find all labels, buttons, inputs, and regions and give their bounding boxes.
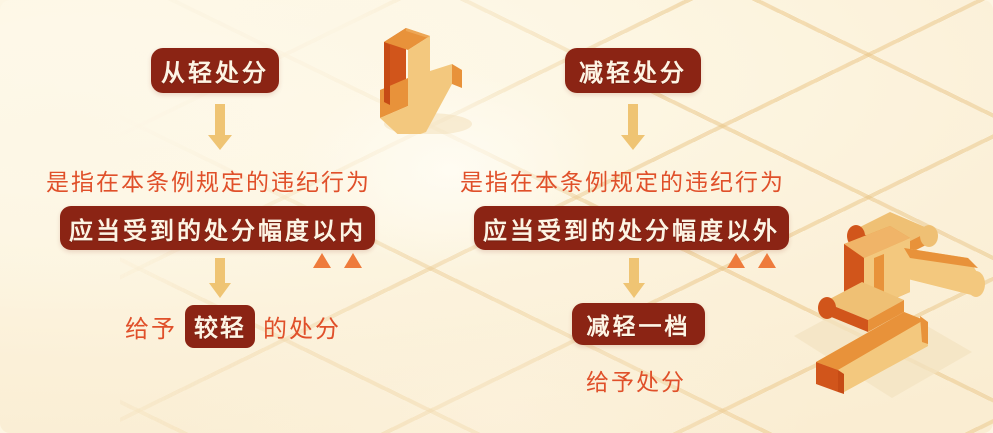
result-badge-cong-qing[interactable]: 较轻 bbox=[185, 305, 255, 348]
emphasis-badge-cong-qing[interactable]: 应当受到的处分幅度以内 bbox=[60, 206, 375, 250]
triangle-marker-pair-left bbox=[313, 253, 362, 268]
result-caption-jian-qing: 给予处分 bbox=[586, 363, 686, 397]
down-arrow-icon-left-1 bbox=[206, 104, 234, 152]
triangle-marker-icon bbox=[758, 253, 776, 268]
result-suffix-cong-qing: 的处分 bbox=[263, 309, 341, 344]
definition-text-cong-qing: 是指在本条例规定的违纪行为 bbox=[46, 163, 371, 197]
heading-badge-cong-qing[interactable]: 从轻处分 bbox=[151, 48, 279, 93]
down-arrow-icon-right-1 bbox=[619, 104, 647, 152]
result-prefix-cong-qing: 给予 bbox=[125, 309, 177, 344]
triangle-marker-icon bbox=[727, 253, 745, 268]
result-badge-jian-qing[interactable]: 减轻一档 bbox=[572, 303, 705, 345]
triangle-marker-pair-right bbox=[727, 253, 776, 268]
emphasis-badge-jian-qing[interactable]: 应当受到的处分幅度以外 bbox=[474, 206, 789, 250]
down-arrow-icon-left-2 bbox=[207, 258, 233, 300]
down-arrow-icon-right-2 bbox=[621, 258, 647, 300]
triangle-marker-icon bbox=[313, 253, 331, 268]
heading-badge-jian-qing[interactable]: 减轻处分 bbox=[565, 48, 701, 93]
result-row-cong-qing: 给予 较轻 的处分 bbox=[125, 305, 341, 348]
definition-text-jian-qing: 是指在本条例规定的违纪行为 bbox=[460, 163, 785, 197]
infographic-canvas: 从轻处分 是指在本条例规定的违纪行为 应当受到的处分幅度以内 给予 较轻 的处分… bbox=[0, 0, 993, 433]
triangle-marker-icon bbox=[344, 253, 362, 268]
